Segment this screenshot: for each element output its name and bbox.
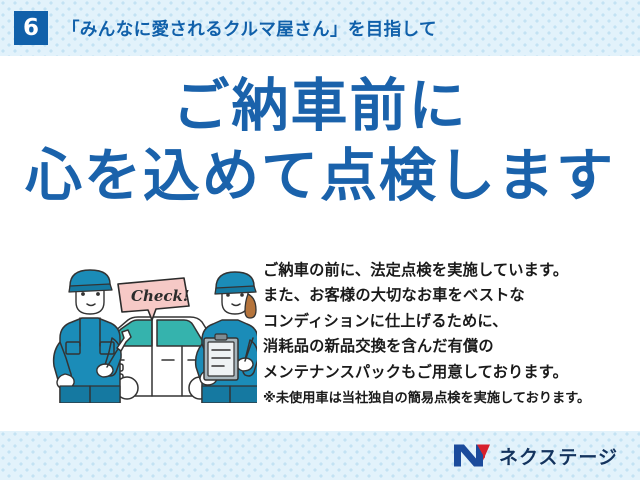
- check-speech-bubble: Check!: [118, 278, 190, 320]
- clipboard: [204, 334, 238, 380]
- body-line: コンディションに仕上げるために、: [263, 309, 623, 334]
- headline: ご納車前に 心を込めて点検します: [0, 72, 640, 211]
- header-inner: 6 「みんなに愛されるクルマ屋さん」を目指して: [0, 0, 640, 56]
- body-note: ※未使用車は当社独自の簡易点検を実施しております。: [263, 387, 623, 409]
- mechanics-illustration: .ln{fill:none;stroke:#333;stroke-width:1…: [52, 268, 257, 403]
- headline-line-2: 心を込めて点検します: [0, 142, 640, 212]
- page-footer: ネクステージ: [0, 430, 640, 480]
- check-bubble-text: Check!: [131, 287, 190, 305]
- header-title: 「みんなに愛されるクルマ屋さん」を目指して: [62, 16, 437, 41]
- body-line: また、お客様の大切なお車をベストな: [263, 283, 623, 308]
- body-line: 消耗品の新品交換を含んだ有償の: [263, 334, 623, 359]
- brand-logo-text: ネクステージ: [499, 442, 618, 469]
- page-header: 6 「みんなに愛されるクルマ屋さん」を目指して: [0, 0, 640, 57]
- female-mechanic: [196, 272, 257, 403]
- brand-logo: ネクステージ: [452, 442, 618, 469]
- step-number-badge: 6: [14, 11, 48, 45]
- headline-line-1: ご納車前に: [0, 72, 640, 142]
- body-copy: ご納車の前に、法定点検を実施しています。 また、お客様の大切なお車をベストな コ…: [263, 258, 623, 409]
- nextage-n-icon: [452, 443, 492, 469]
- body-line: ご納車の前に、法定点検を実施しています。: [263, 258, 623, 283]
- illustration-svg: .ln{fill:none;stroke:#333;stroke-width:1…: [52, 268, 257, 403]
- body-line: メンテナンスパックもご用意しております。: [263, 360, 623, 385]
- promo-page: 6 「みんなに愛されるクルマ屋さん」を目指して ご納車前に 心を込めて点検します…: [0, 0, 640, 480]
